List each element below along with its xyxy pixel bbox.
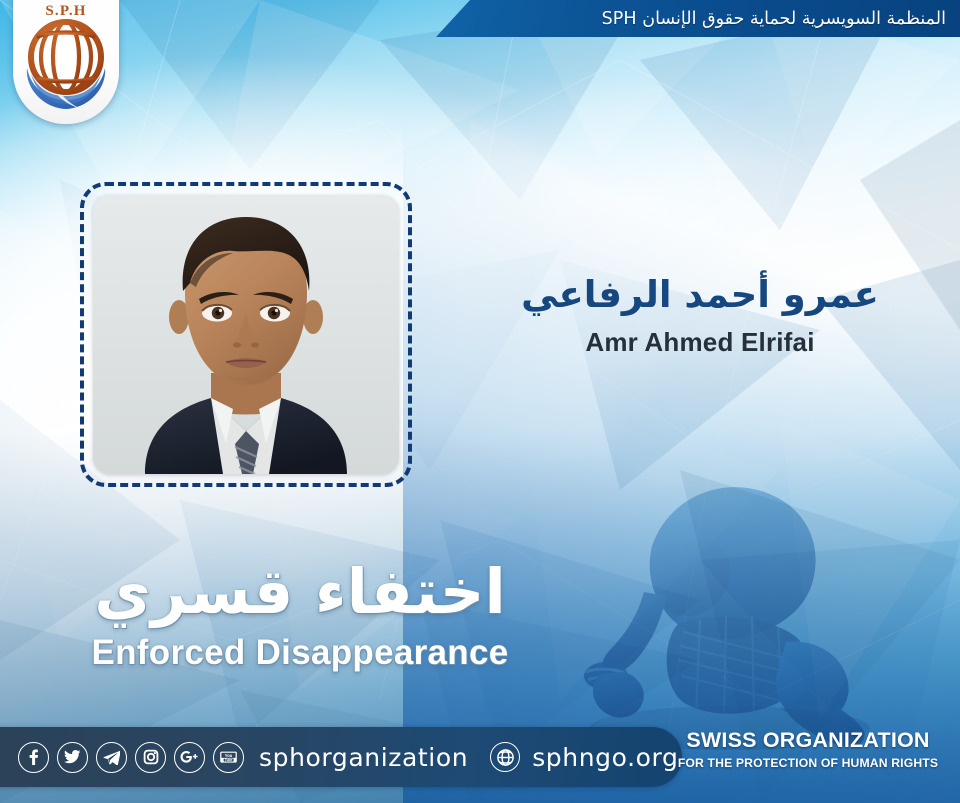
globe-icon [490, 742, 520, 772]
telegram-icon[interactable] [96, 742, 127, 773]
footer-bar: You Tube sphorganization sphngo.org [0, 727, 682, 787]
header-bar: المنظمة السويسرية لحماية حقوق الإنسان SP… [436, 0, 960, 37]
organization-wordmark: SWISS ORGANIZATION FOR THE PROTECTION OF… [672, 728, 944, 770]
svg-text:Tube: Tube [225, 758, 233, 762]
svg-text:S.P.H: S.P.H [45, 3, 86, 19]
sph-shield-logo[interactable]: S.P.H [13, 0, 119, 124]
victim-name-english: Amr Ahmed Elrifai [470, 327, 930, 358]
victim-photo [93, 195, 399, 474]
org-name-line1: SWISS ORGANIZATION [672, 728, 944, 753]
case-title-block: اختفاء قسري Enforced Disappearance [0, 556, 600, 673]
instagram-icon[interactable] [135, 742, 166, 773]
google-plus-icon[interactable] [174, 742, 205, 773]
poster-canvas: المنظمة السويسرية لحماية حقوق الإنسان SP… [0, 0, 960, 803]
social-handle[interactable]: sphorganization [259, 743, 468, 772]
org-name-line2: FOR THE PROTECTION OF HUMAN RIGHTS [672, 756, 944, 770]
header-title: المنظمة السويسرية لحماية حقوق الإنسان SP… [602, 0, 946, 37]
case-title-english: Enforced Disappearance [0, 633, 600, 673]
website-url[interactable]: sphngo.org [532, 743, 678, 772]
facebook-icon[interactable] [18, 742, 49, 773]
case-title-arabic: اختفاء قسري [0, 556, 600, 627]
social-links: You Tube [18, 742, 244, 773]
victim-name-block: عمرو أحمد الرفاعي Amr Ahmed Elrifai [470, 272, 930, 358]
bound-person-silhouette [560, 428, 920, 758]
victim-photo-frame [80, 182, 412, 487]
twitter-icon[interactable] [57, 742, 88, 773]
victim-name-arabic: عمرو أحمد الرفاعي [470, 272, 930, 318]
youtube-icon[interactable]: You Tube [213, 742, 244, 773]
